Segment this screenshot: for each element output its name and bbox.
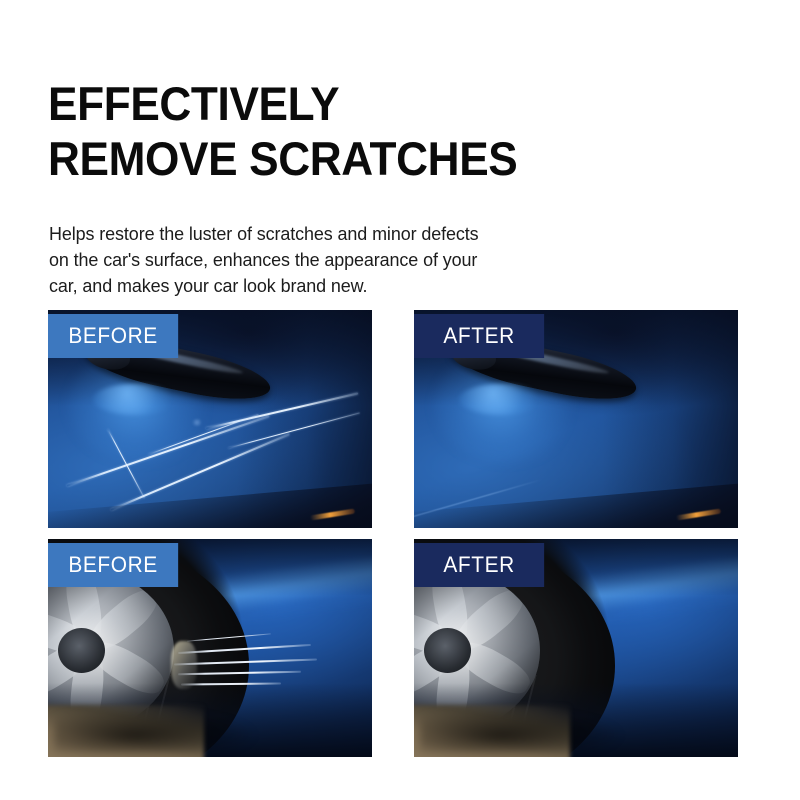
headline-line-2: REMOVE SCRATCHES — [48, 132, 706, 187]
description-line-3: car, and makes your car look brand new. — [49, 273, 612, 299]
page-title: EFFECTIVELY REMOVE SCRATCHES — [48, 77, 706, 187]
badge-after-label: AFTER — [443, 323, 514, 349]
description-line-1: Helps restore the luster of scratches an… — [49, 221, 612, 247]
badge-after-label: AFTER — [443, 552, 514, 578]
handle-reflection — [93, 384, 177, 415]
comparison-panel-bumper-before: BEFORE — [48, 539, 372, 757]
badge-after: AFTER — [414, 314, 544, 358]
comparison-panel-door-after: AFTER — [414, 310, 738, 528]
badge-after: AFTER — [414, 543, 544, 587]
headline-line-1: EFFECTIVELY — [48, 77, 706, 132]
badge-before-label: BEFORE — [68, 323, 157, 349]
vehicle-shadow — [54, 709, 255, 753]
badge-before: BEFORE — [48, 543, 178, 587]
comparison-panel-bumper-after: AFTER — [414, 539, 738, 757]
badge-before-label: BEFORE — [68, 552, 157, 578]
paint-blemish — [191, 419, 203, 426]
before-after-grid: BEFORE AFTER — [48, 310, 738, 757]
product-feature-page: EFFECTIVELY REMOVE SCRATCHES Helps resto… — [0, 0, 800, 800]
comparison-panel-door-before: BEFORE — [48, 310, 372, 528]
vehicle-shadow — [420, 709, 621, 753]
description-paragraph: Helps restore the luster of scratches an… — [49, 221, 612, 300]
handle-reflection — [459, 384, 543, 415]
description-line-2: on the car's surface, enhances the appea… — [49, 247, 612, 273]
badge-before: BEFORE — [48, 314, 178, 358]
